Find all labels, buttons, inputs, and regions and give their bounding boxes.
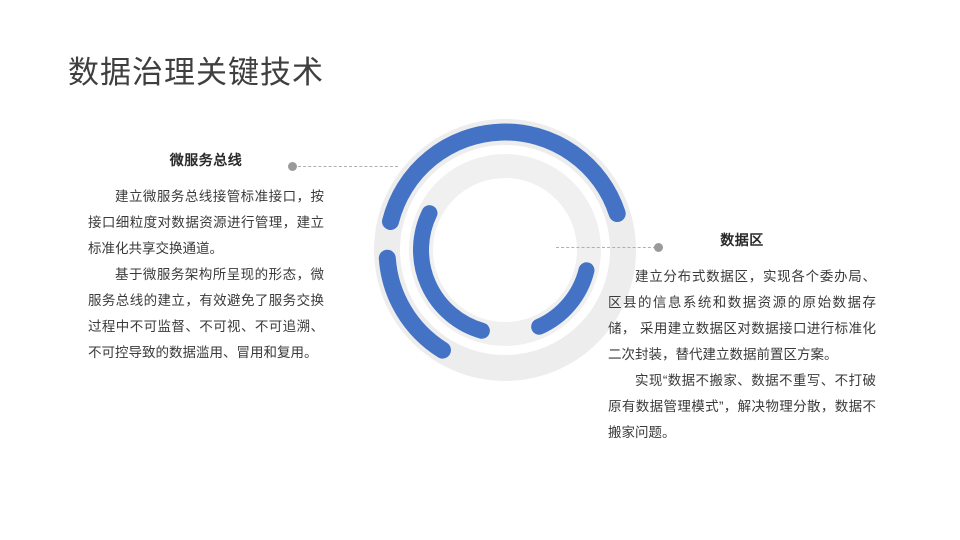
- right-block-paragraph-1: 建立分布式数据区，实现各个委办局、区县的信息系统和数据资源的原始数据存储， 采用…: [608, 264, 876, 368]
- right-block-heading: 数据区: [608, 230, 876, 250]
- left-block-heading: 微服务总线: [88, 150, 324, 170]
- slide-canvas: 数据治理关键技术 微服务总线 建立微服务总线接管标准接口，按接口细粒度对数据资源…: [0, 0, 960, 540]
- inner-ring-arc-2: [421, 213, 482, 331]
- left-block-body: 建立微服务总线接管标准接口，按接口细粒度对数据资源进行管理，建立标准化共享交换通…: [88, 184, 324, 366]
- right-block-paragraph-2: 实现“数据不搬家、数据不重写、不打破原有数据管理模式”，解决物理分散，数据不搬家…: [608, 368, 876, 446]
- left-block-paragraph-2: 基于微服务架构所呈现的形态，微服务总线的建立，有效避免了服务交换过程中不可监督、…: [88, 262, 324, 366]
- text-block-left: 微服务总线 建立微服务总线接管标准接口，按接口细粒度对数据资源进行管理，建立标准…: [88, 150, 324, 366]
- text-block-right: 数据区 建立分布式数据区，实现各个委办局、区县的信息系统和数据资源的原始数据存储…: [608, 230, 876, 446]
- left-block-paragraph-1: 建立微服务总线接管标准接口，按接口细粒度对数据资源进行管理，建立标准化共享交换通…: [88, 184, 324, 262]
- page-title: 数据治理关键技术: [68, 52, 324, 94]
- right-block-body: 建立分布式数据区，实现各个委办局、区县的信息系统和数据资源的原始数据存储， 采用…: [608, 264, 876, 446]
